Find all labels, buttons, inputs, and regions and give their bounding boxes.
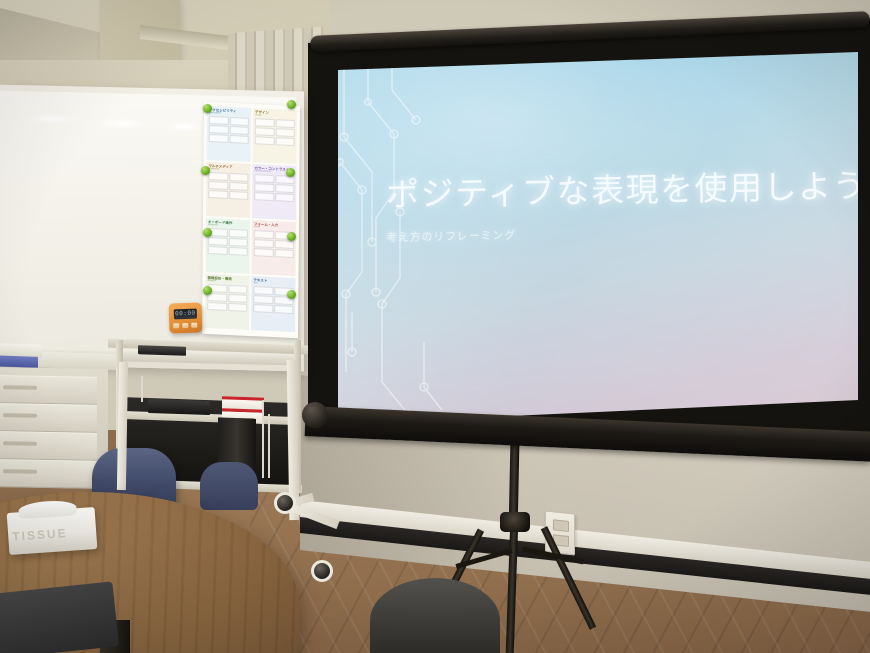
accessibility-poster[interactable]: アクセシビリティ Accessibility デザイン Design マルチメデ… xyxy=(202,102,300,338)
magnet[interactable] xyxy=(286,168,295,177)
tissue-box[interactable]: TISSUE xyxy=(7,507,98,555)
projected-slide: ポジティブな表現を使用しよう 考え方のリフレーミング xyxy=(338,52,858,424)
cabinet-drawer[interactable] xyxy=(0,431,97,461)
cable xyxy=(141,376,143,402)
poster-panel: デザイン Design xyxy=(253,108,297,164)
poster-panel: キーボード操作 Keyboard xyxy=(206,218,250,274)
cabinet-drawer[interactable] xyxy=(0,375,97,405)
magnet[interactable] xyxy=(203,104,212,113)
magnet[interactable] xyxy=(203,286,212,295)
cart-caster xyxy=(311,560,333,582)
dark-notebook xyxy=(0,581,119,653)
poster-panel: テキスト Text xyxy=(251,276,295,332)
tissue-box-label: TISSUE xyxy=(12,526,68,544)
magnet[interactable] xyxy=(203,228,212,237)
timer-button[interactable] xyxy=(173,323,179,328)
kitchen-timer[interactable]: 00:00 xyxy=(168,302,202,333)
timer-display: 00:00 xyxy=(174,309,197,320)
projection-screen: ポジティブな表現を使用しよう 考え方のリフレーミング xyxy=(308,18,870,518)
timer-button[interactable] xyxy=(191,323,197,328)
slide-title: ポジティブな表現を使用しよう xyxy=(386,160,827,216)
magnet[interactable] xyxy=(201,166,210,175)
cabinet-drawer[interactable] xyxy=(0,403,97,433)
magnet[interactable] xyxy=(287,290,296,299)
slide-text-block: ポジティブな表現を使用しよう 考え方のリフレーミング xyxy=(386,164,826,241)
magnet[interactable] xyxy=(287,232,296,241)
timer-value: 00:00 xyxy=(174,309,197,320)
cable xyxy=(262,400,264,478)
foreground-chair xyxy=(370,578,500,653)
slide-subtitle: 考え方のリフレーミング xyxy=(386,221,826,245)
poster-panel: アクセシビリティ Accessibility xyxy=(207,106,251,162)
router-device xyxy=(148,399,210,415)
closed-laptop xyxy=(138,345,186,356)
poster-panel: マルチメディア Multimedia xyxy=(206,162,250,218)
cabinet-drawer[interactable] xyxy=(0,459,97,489)
magnet[interactable] xyxy=(287,100,296,109)
timer-button[interactable] xyxy=(182,323,188,328)
blue-binder xyxy=(0,355,38,368)
cart-caster xyxy=(274,492,296,514)
cable xyxy=(268,414,270,478)
poster-panel: 情報設計・構造 Structure xyxy=(205,274,249,330)
poster-panel: フォーム・入力 Forms xyxy=(252,220,296,276)
chair-back-secondary xyxy=(200,462,258,510)
meeting-room-photo: ポジティブな表現を使用しよう 考え方のリフレーミング アクセシビリティ Acce… xyxy=(0,0,870,653)
